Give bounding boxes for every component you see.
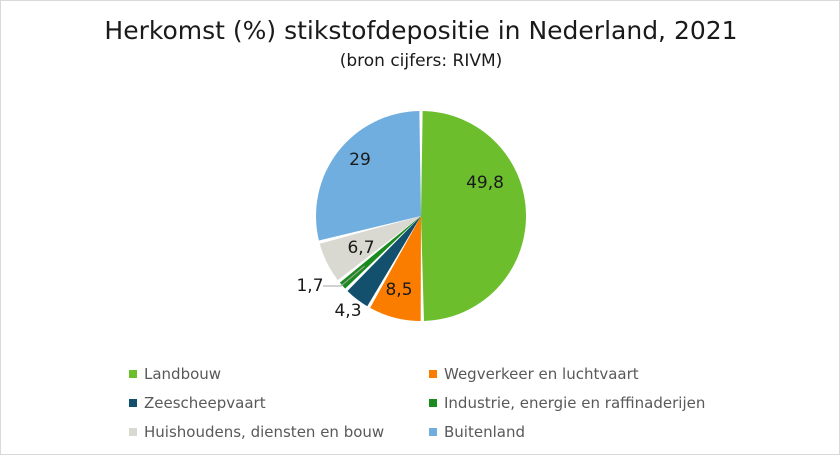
- legend-color-swatch-icon: [429, 428, 437, 436]
- chart-legend: LandbouwWegverkeer en luchtvaartZeeschee…: [129, 359, 749, 446]
- pie-data-label: 4,3: [334, 301, 361, 321]
- legend-item-label: Industrie, energie en raffinaderijen: [444, 394, 705, 412]
- pie-data-label: 49,8: [466, 173, 504, 193]
- legend-item[interactable]: Industrie, energie en raffinaderijen: [429, 388, 729, 417]
- legend-item-label: Buitenland: [444, 423, 525, 441]
- pie-data-label: 8,5: [385, 280, 412, 300]
- chart-subtitle: (bron cijfers: RIVM): [1, 49, 840, 73]
- legend-item[interactable]: Landbouw: [129, 359, 429, 388]
- legend-item[interactable]: Buitenland: [429, 417, 729, 446]
- legend-color-swatch-icon: [429, 370, 437, 378]
- chart-figure: Herkomst (%) stikstofdepositie in Nederl…: [0, 0, 840, 455]
- pie-data-label: 29: [349, 150, 371, 170]
- chart-title: Herkomst (%) stikstofdepositie in Nederl…: [1, 15, 840, 47]
- legend-item-label: Huishoudens, diensten en bouw: [144, 423, 384, 441]
- pie-data-label: 6,7: [347, 238, 374, 258]
- legend-item[interactable]: Wegverkeer en luchtvaart: [429, 359, 729, 388]
- pie-data-label: 1,7: [296, 276, 323, 296]
- plot-area: 49,88,54,31,76,729: [1, 87, 840, 342]
- legend-color-swatch-icon: [429, 399, 437, 407]
- pie-slice[interactable]: [421, 111, 526, 321]
- legend-color-swatch-icon: [129, 370, 137, 378]
- pie-slices-group: [316, 111, 526, 321]
- legend-color-swatch-icon: [129, 399, 137, 407]
- pie-chart: 49,88,54,31,76,729: [1, 87, 840, 342]
- legend-item[interactable]: Huishoudens, diensten en bouw: [129, 417, 429, 446]
- legend-color-swatch-icon: [129, 428, 137, 436]
- legend-item[interactable]: Zeescheepvaart: [129, 388, 429, 417]
- title-block: Herkomst (%) stikstofdepositie in Nederl…: [1, 15, 840, 73]
- legend-item-label: Landbouw: [144, 365, 221, 383]
- legend-item-label: Wegverkeer en luchtvaart: [444, 365, 639, 383]
- legend-item-label: Zeescheepvaart: [144, 394, 266, 412]
